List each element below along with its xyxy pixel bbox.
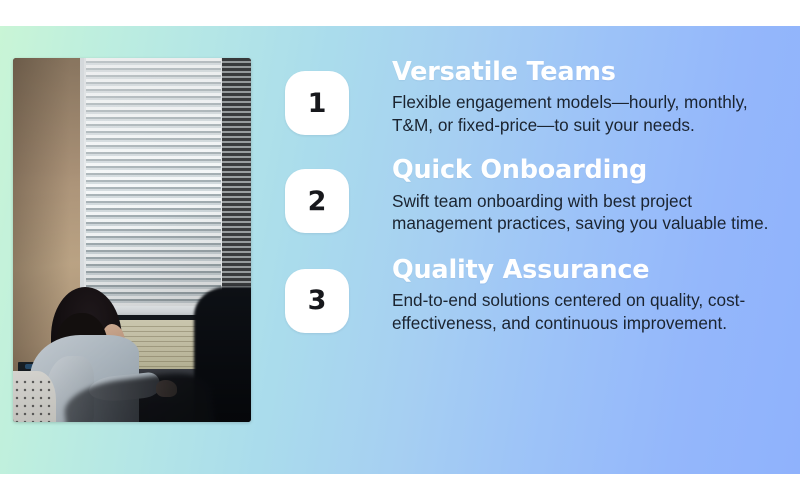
feature-item-1: 1 Versatile Teams Flexible engagement mo… [285, 58, 790, 136]
feature-number-2: 2 [308, 188, 327, 215]
photo-color-grade [13, 58, 251, 422]
feature-title-1: Versatile Teams [392, 58, 790, 86]
feature-number-1: 1 [308, 90, 327, 117]
feature-title-2: Quick Onboarding [392, 156, 790, 184]
office-workstation-photo [13, 58, 251, 422]
feature-description-3: End-to-end solutions centered on quality… [392, 289, 790, 334]
feature-text-2: Quick Onboarding Swift team onboarding w… [349, 156, 790, 234]
feature-number-3: 3 [308, 287, 327, 314]
feature-text-3: Quality Assurance End-to-end solutions c… [349, 256, 790, 334]
feature-number-badge-2: 2 [285, 169, 349, 233]
feature-description-2: Swift team onboarding with best project … [392, 190, 790, 235]
feature-number-badge-1: 1 [285, 71, 349, 135]
feature-text-1: Versatile Teams Flexible engagement mode… [349, 58, 790, 136]
feature-item-2: 2 Quick Onboarding Swift team onboarding… [285, 156, 790, 234]
slide-root: 1 Versatile Teams Flexible engagement mo… [0, 0, 800, 480]
feature-list: 1 Versatile Teams Flexible engagement mo… [285, 58, 790, 334]
feature-title-3: Quality Assurance [392, 256, 790, 284]
feature-description-1: Flexible engagement models—hourly, month… [392, 91, 790, 136]
feature-number-badge-3: 3 [285, 269, 349, 333]
feature-item-3: 3 Quality Assurance End-to-end solutions… [285, 256, 790, 334]
